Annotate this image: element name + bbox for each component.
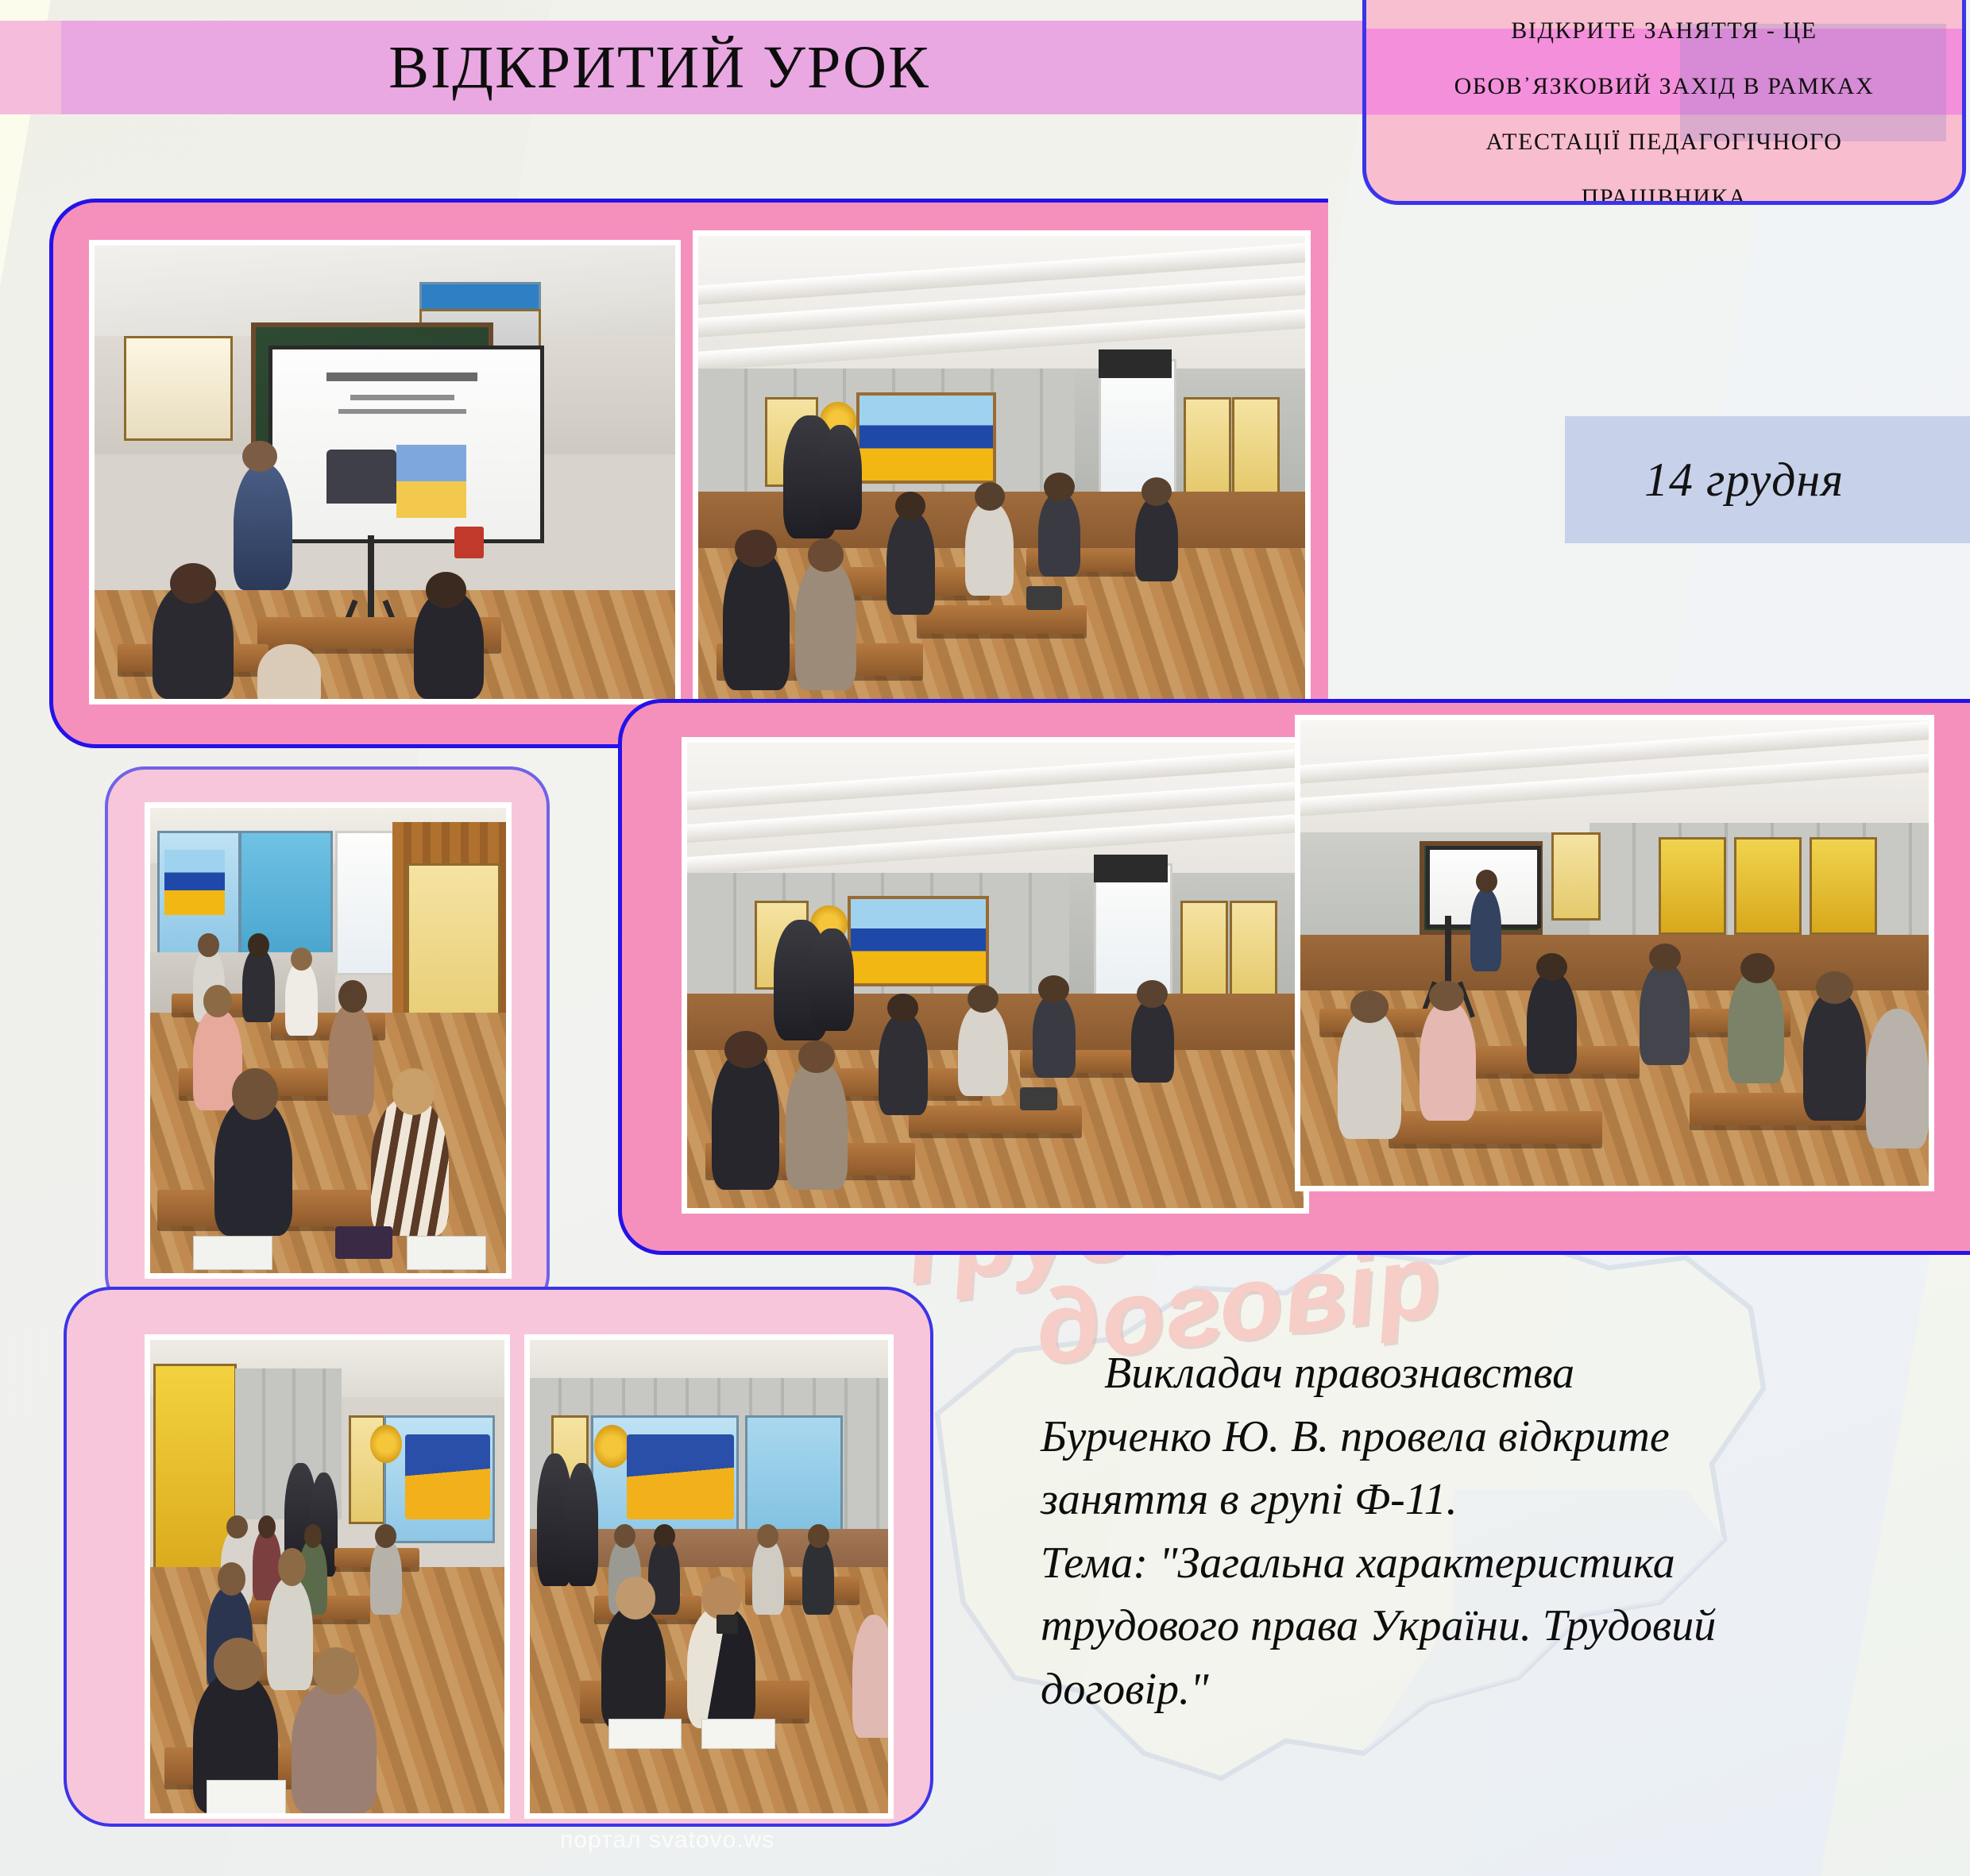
date-box: 14 грудня xyxy=(1565,416,1970,543)
photo-class-overview-1 xyxy=(693,230,1311,715)
note-line-4: ПРАЦІВНИКА xyxy=(1366,184,1962,205)
body-text-line-4: Тема: "Загальна характеристика xyxy=(1041,1532,1906,1596)
date-label: 14 грудня xyxy=(1565,453,1844,508)
photo-scene xyxy=(698,236,1305,709)
photo-students-desks xyxy=(145,802,512,1279)
body-text-line-3: заняття в групі Ф-11. xyxy=(1041,1469,1906,1532)
photo-class-overview-2 xyxy=(682,737,1309,1214)
note-box: ВІДКРИТЕ ЗАНЯТТЯ - ЦЕ ОБОВ᾿ЯЗКОВИЙ ЗАХІД… xyxy=(1362,0,1966,205)
note-box-lines: ВІДКРИТЕ ЗАНЯТТЯ - ЦЕ ОБОВ᾿ЯЗКОВИЙ ЗАХІД… xyxy=(1366,0,1962,205)
note-line-2: ОБОВ᾿ЯЗКОВИЙ ЗАХІД В РАМКАХ xyxy=(1366,73,1962,100)
body-text-block: Викладач правознавства Бурченко Ю. В. пр… xyxy=(1041,1342,1906,1721)
photo-scene xyxy=(1300,720,1929,1186)
body-text-line-5: трудового права України. Трудовий xyxy=(1041,1595,1906,1658)
photo-scene xyxy=(95,245,675,699)
photo-teacher-at-screen xyxy=(89,240,681,704)
photo-students-front-row xyxy=(145,1334,510,1819)
note-line-3: АТЕСТАЦІЇ ПЕДАГОГІЧНОГО xyxy=(1366,129,1962,156)
footer-watermark: портал svatovo.ws xyxy=(560,1827,774,1854)
photo-scene xyxy=(150,1340,504,1813)
photo-scene xyxy=(687,743,1304,1208)
photo-students-boys xyxy=(524,1334,894,1819)
photo-scene xyxy=(150,808,506,1273)
page-title: ВІДКРИТИЙ УРОК xyxy=(0,21,1319,114)
body-text-line-6: договір." xyxy=(1041,1658,1906,1722)
body-text-line-2: Бурченко Ю. В. провела відкрите xyxy=(1041,1406,1906,1469)
note-line-1: ВІДКРИТЕ ЗАНЯТТЯ - ЦЕ xyxy=(1366,17,1962,44)
photo-class-right-side xyxy=(1295,715,1934,1191)
photo-scene xyxy=(530,1340,888,1813)
body-text-line-1: Викладач правознавства xyxy=(1041,1342,1906,1406)
